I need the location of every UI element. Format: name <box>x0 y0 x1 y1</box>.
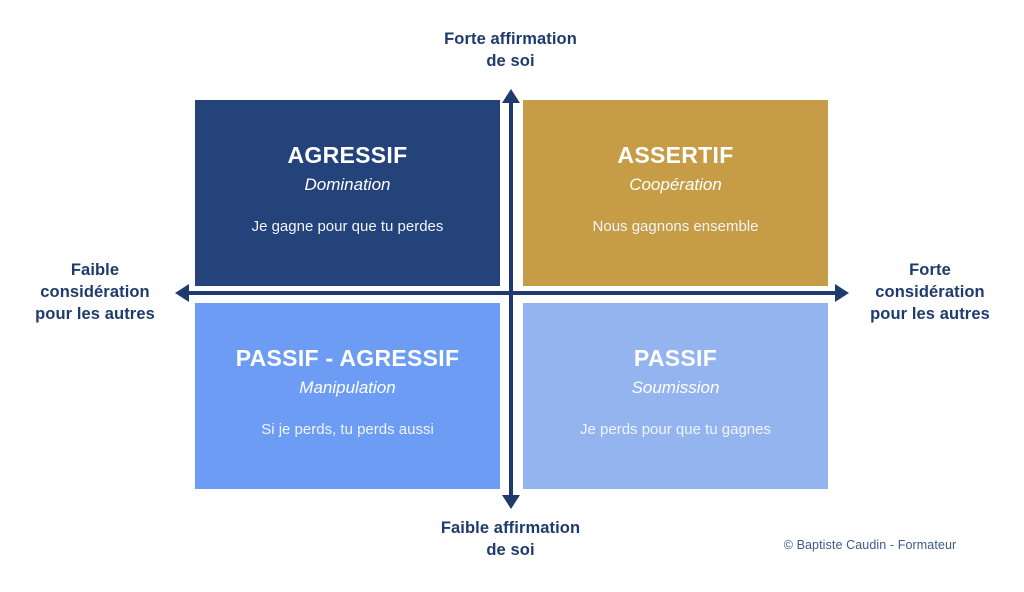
arrow-up-icon <box>502 89 520 103</box>
quadrant-passif-agressif: PASSIF - AGRESSIF Manipulation Si je per… <box>195 303 500 489</box>
arrow-down-icon <box>502 495 520 509</box>
arrow-right-icon <box>835 284 849 302</box>
quadrant-subtitle: Soumission <box>632 378 720 398</box>
arrow-left-icon <box>175 284 189 302</box>
quadrant-passif: PASSIF Soumission Je perds pour que tu g… <box>523 303 828 489</box>
quadrant-title: PASSIF <box>634 346 717 371</box>
quadrant-title: AGRESSIF <box>288 143 408 168</box>
quadrant-assertif: ASSERTIF Coopération Nous gagnons ensemb… <box>523 100 828 286</box>
axis-label-right: Forte considération pour les autres <box>840 260 1020 325</box>
credit-text: © Baptiste Caudin - Formateur <box>740 538 1000 552</box>
quadrant-agressif: AGRESSIF Domination Je gagne pour que tu… <box>195 100 500 286</box>
quadrant-title: PASSIF - AGRESSIF <box>236 346 460 371</box>
quadrant-title: ASSERTIF <box>617 143 733 168</box>
quadrant-description: Je perds pour que tu gagnes <box>580 421 771 439</box>
axis-label-bottom: Faible affirmation de soi <box>393 518 628 562</box>
quadrant-description: Si je perds, tu perds aussi <box>261 421 434 439</box>
quadrant-description: Je gagne pour que tu perdes <box>252 218 444 236</box>
quadrant-description: Nous gagnons ensemble <box>593 218 759 236</box>
axis-label-top: Forte affirmation de soi <box>393 29 628 73</box>
vertical-axis-line <box>509 100 513 498</box>
quadrant-subtitle: Coopération <box>629 175 722 195</box>
quadrant-subtitle: Manipulation <box>299 378 395 398</box>
axis-label-left: Faible considération pour les autres <box>5 260 185 325</box>
assertiveness-matrix-diagram: Forte affirmation de soi Faible affirmat… <box>0 0 1024 592</box>
quadrant-subtitle: Domination <box>305 175 391 195</box>
